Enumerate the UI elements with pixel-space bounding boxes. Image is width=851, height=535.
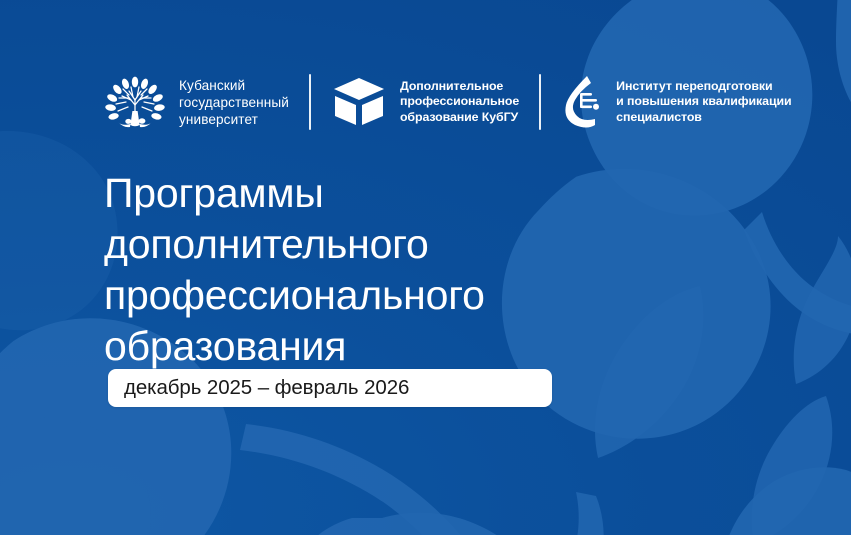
logo-bar: Кубанский государственный университет До… xyxy=(104,64,792,140)
date-range-label: декабрь 2025 – февраль 2026 xyxy=(108,378,409,399)
logo-label-institute-retraining: Институт переподготовки и повышения квал… xyxy=(616,79,791,125)
kubsu-tree-logo-icon xyxy=(104,71,166,133)
date-range-badge: декабрь 2025 – февраль 2026 xyxy=(108,369,552,407)
logo-institute-retraining[interactable]: Институт переподготовки и повышения квал… xyxy=(561,75,791,129)
page-title: Программы дополнительного профессиональн… xyxy=(104,168,485,372)
logo-kuban-state-university[interactable]: Кубанский государственный университет xyxy=(104,71,289,133)
logo-dpo-kubgu[interactable]: Дополнительное профессиональное образова… xyxy=(331,76,519,128)
logo-divider-1 xyxy=(309,74,311,130)
institute-e-emblem-icon xyxy=(561,75,603,129)
logo-label-dpo-kubgu: Дополнительное профессиональное образова… xyxy=(400,79,519,125)
logo-divider-2 xyxy=(539,74,541,130)
graduation-cap-book-icon xyxy=(331,76,387,128)
logo-label-kuban-state-university: Кубанский государственный университет xyxy=(179,77,289,128)
poster-canvas: Кубанский государственный университет До… xyxy=(0,0,851,535)
